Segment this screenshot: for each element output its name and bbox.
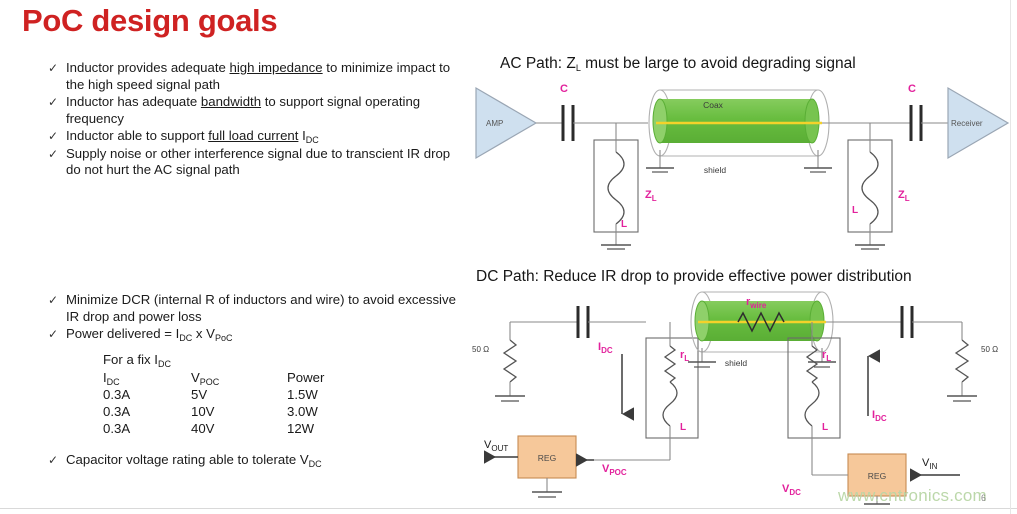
bullet-bottom-text: Power delivered = IDC x VPoC [66,326,456,343]
slide-canvas: PoC design goals ✓Inductor provides adeq… [0,0,1017,514]
termination-left-label: 50 Ω [472,345,489,354]
inductor-box-left-dc: rL L [646,322,698,460]
bullet-list-tail: ✓Capacitor voltage rating able to tolera… [48,452,456,470]
page-number: 6 [981,493,986,503]
vin-label: VIN [922,457,938,471]
idc-right-label: IDC [872,409,887,423]
ac-title-main: AC Path: Z [500,55,576,72]
capacitor-left: C [560,83,573,141]
table-cell: 0.3A [103,403,191,420]
power-table: IDCVPOCPower 0.3A5V1.5W0.3A10V3.0W0.3A40… [103,369,367,437]
rl-left-label: rL [680,349,689,363]
check-icon: ✓ [48,292,66,309]
inductor-right-label-dc: L [822,422,828,433]
right-divider [1010,0,1011,514]
bullet-top-text: Inductor provides adequate high impedanc… [66,60,456,93]
inductor-left-label: L [621,219,627,230]
bullet-top-item: ✓Inductor provides adequate high impedan… [48,60,456,93]
ac-title-rest: must be large to avoid degrading signal [581,55,856,72]
bullet-tail-item: ✓Capacitor voltage rating able to tolera… [48,452,456,469]
idc-left-label: IDC [598,341,613,355]
check-icon: ✓ [48,326,66,343]
table-row: 0.3A10V3.0W [103,403,367,420]
inductor-left-label-dc: L [680,422,686,433]
bullet-bottom-item: ✓Power delivered = IDC x VPoC [48,326,456,343]
reg-left-label: REG [538,453,556,463]
coax-cable-ac: Coax shield [646,90,832,175]
table-cell: 5V [191,386,287,403]
impedance-right-label: ZL [898,189,910,203]
ac-path-title: AC Path: ZL must be large to avoid degra… [500,55,856,73]
termination-right-label: 50 Ω [981,345,998,354]
coax-label: Coax [703,100,724,110]
capacitor-left-dc [578,306,588,338]
bullet-top-item: ✓Supply noise or other interference sign… [48,146,456,179]
bullet-list-top: ✓Inductor provides adequate high impedan… [48,60,456,180]
bullet-tail-text: Capacitor voltage rating able to tolerat… [66,452,456,469]
shield-label-dc: shield [725,358,747,368]
termination-right: 50 Ω [947,322,998,401]
check-icon: ✓ [48,128,66,145]
power-table-head: IDCVPOCPower [103,369,367,386]
vout-label: VOUT [484,439,508,453]
rl-right-label: rL [822,349,831,363]
vdc-label: VDC [782,483,801,497]
receiver-symbol: Receiver [948,88,1008,158]
vpoc-label: VPOC [602,463,627,477]
table-cell: 40V [191,420,287,437]
table-cell: 12W [287,420,367,437]
check-icon: ✓ [48,94,66,111]
power-table-intro-sub: DC [158,359,171,369]
table-cell: 3.0W [287,403,367,420]
reg-right-label: REG [868,471,886,481]
ac-title-sub: L [576,63,581,73]
dc-path-title: DC Path: Reduce IR drop to provide effec… [476,268,912,286]
idc-right-arrow: IDC [868,356,887,423]
capacitor-right-label: C [908,83,916,95]
table-header-cell: Power [287,369,367,386]
amp-label: AMP [486,119,503,128]
power-table-body: 0.3A5V1.5W0.3A10V3.0W0.3A40V12W [103,386,367,437]
site-watermark: www.cntronics.com [838,486,987,506]
table-cell: 10V [191,403,287,420]
check-icon: ✓ [48,146,66,163]
table-row: 0.3A40V12W [103,420,367,437]
capacitor-right: C [908,83,921,141]
table-header-cell: IDC [103,369,191,386]
ac-path-diagram: AMP C L ZL [470,80,1017,245]
inductor-box-left: L ZL [594,123,657,249]
receiver-label: Receiver [951,119,983,128]
table-header-cell: VPOC [191,369,287,386]
capacitor-right-dc [902,306,912,338]
inductor-right-label: L [852,205,858,216]
table-cell: 1.5W [287,386,367,403]
bullet-top-text: Inductor able to support full load curre… [66,128,456,145]
shield-label: shield [704,165,726,175]
table-header-row: IDCVPOCPower [103,369,367,386]
bullet-bottom-item: ✓Minimize DCR (internal R of inductors a… [48,292,456,325]
page-title: PoC design goals [22,3,277,39]
power-table-intro-text: For a fix I [103,352,158,367]
termination-left: 50 Ω [472,322,525,401]
coax-cable-dc: rwire shield [688,292,836,368]
bullet-list-bottom: ✓Minimize DCR (internal R of inductors a… [48,292,456,344]
rwire-label: rwire [746,296,767,310]
bullet-top-text: Inductor has adequate bandwidth to suppo… [66,94,456,127]
power-table-grid: IDCVPOCPower 0.3A5V1.5W0.3A10V3.0W0.3A40… [103,369,367,437]
bullet-top-text: Supply noise or other interference signa… [66,146,456,179]
bullet-bottom-text: Minimize DCR (internal R of inductors an… [66,292,456,325]
table-row: 0.3A5V1.5W [103,386,367,403]
check-icon: ✓ [48,452,66,469]
dc-path-diagram: 50 Ω IDC rL [470,296,1017,510]
inductor-box-right: L ZL [848,123,910,249]
power-table-intro: For a fix IDC [103,352,171,367]
bottom-divider [0,508,1017,509]
regulator-left: REG VOUT VPOC [484,436,670,497]
amp-symbol: AMP [476,88,536,158]
bullet-top-item: ✓Inductor able to support full load curr… [48,128,456,145]
table-cell: 0.3A [103,420,191,437]
idc-left-arrow: IDC [598,341,622,414]
capacitor-left-label: C [560,83,568,95]
check-icon: ✓ [48,60,66,77]
table-cell: 0.3A [103,386,191,403]
bullet-top-item: ✓Inductor has adequate bandwidth to supp… [48,94,456,127]
impedance-left-label: ZL [645,189,657,203]
